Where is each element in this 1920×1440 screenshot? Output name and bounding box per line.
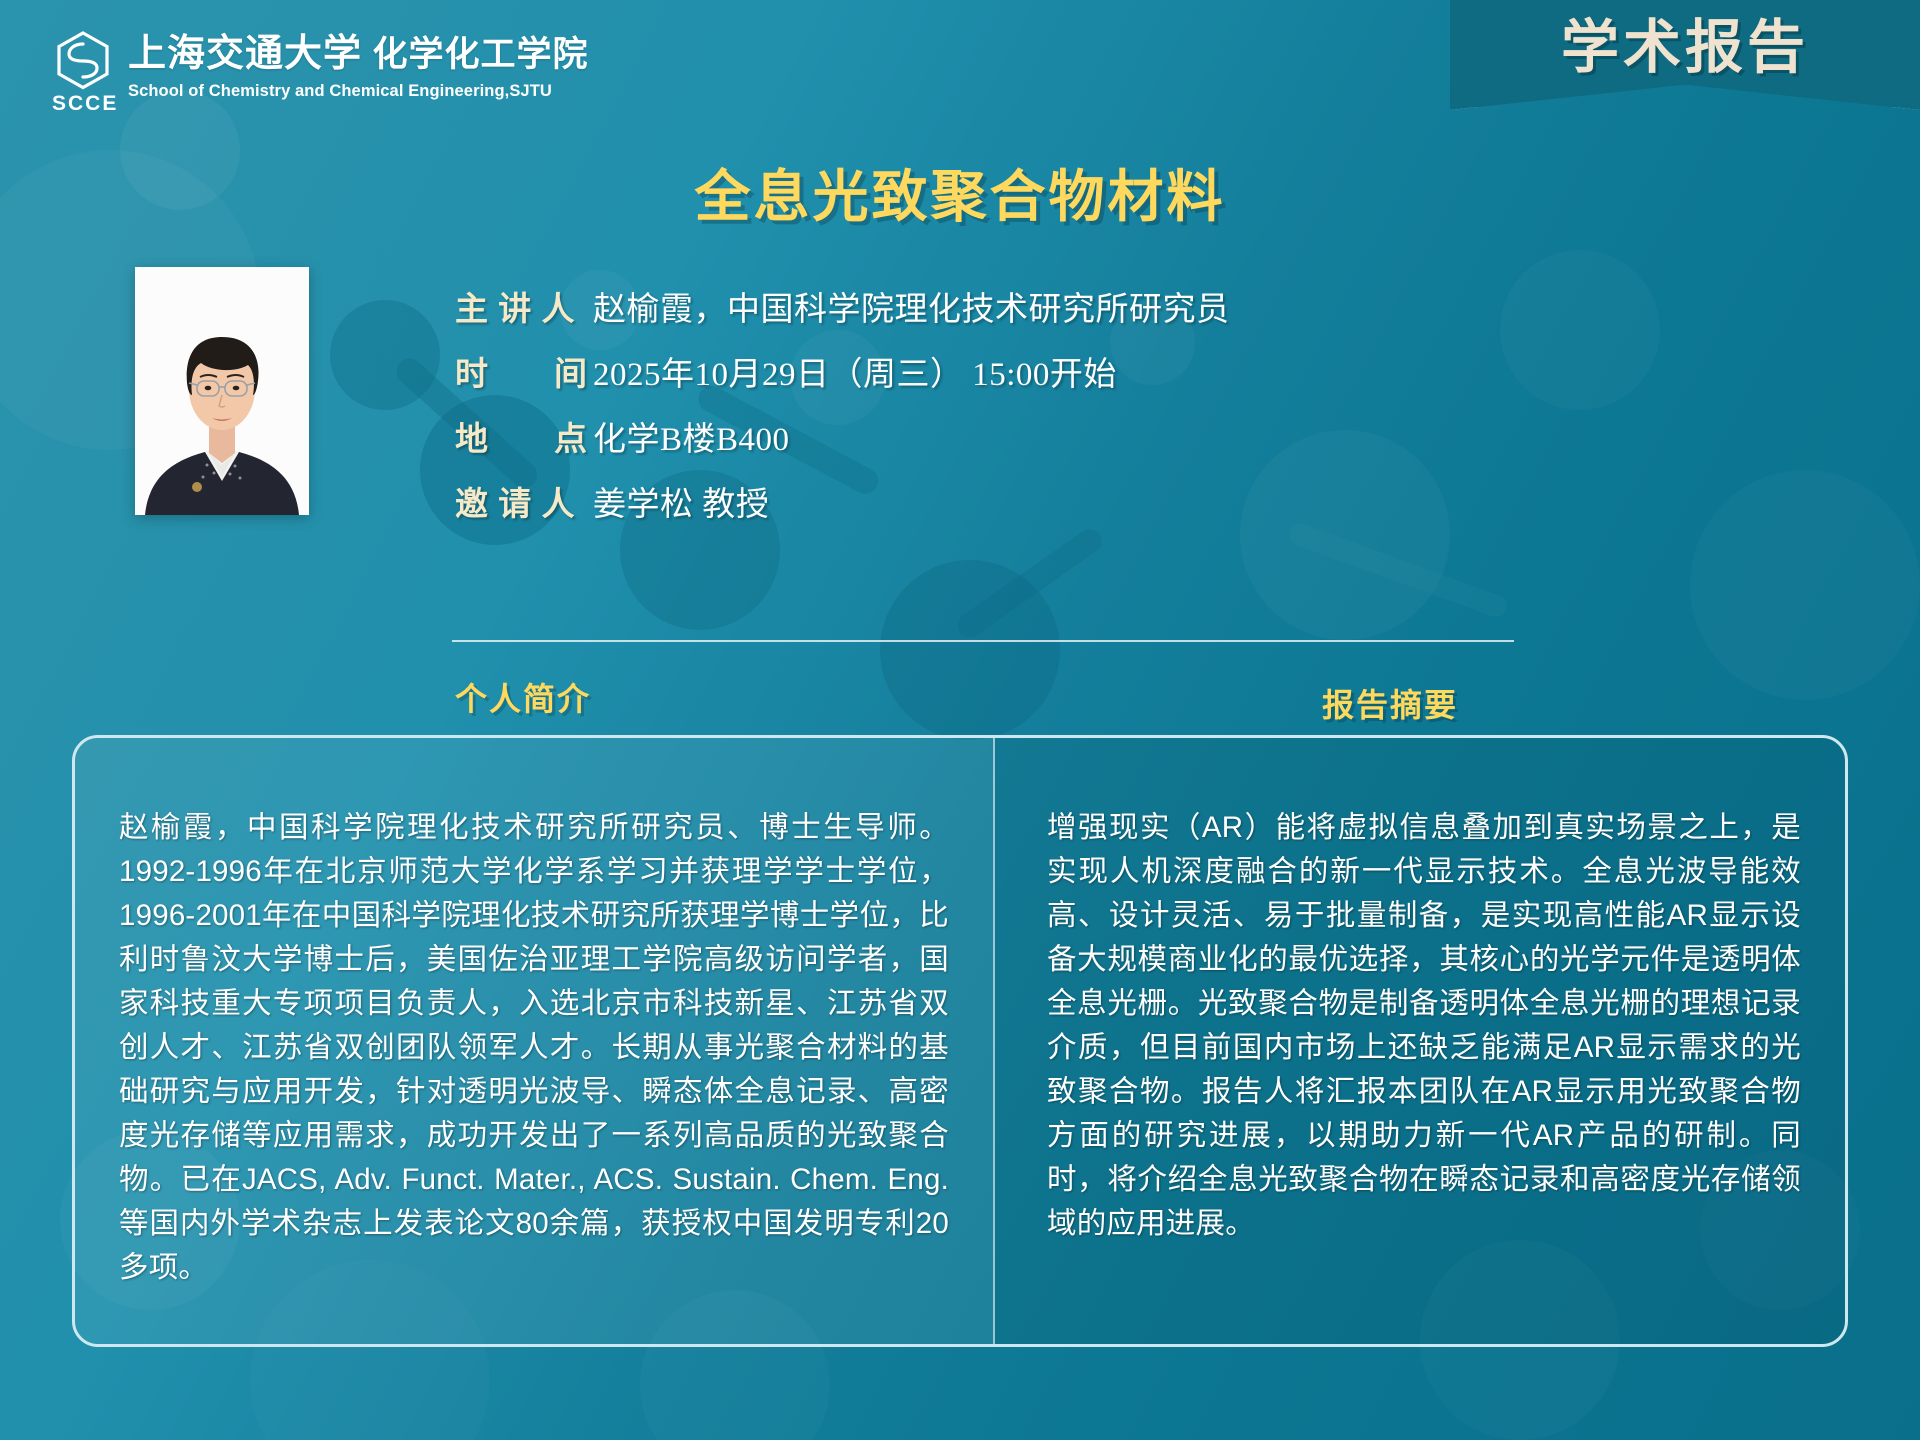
info-label-time: 时 间 — [455, 347, 593, 395]
info-row-time: 时 间 2025年10月29日（周三） 15:00开始 — [455, 347, 1525, 395]
page-title: 全息光致聚合物材料 — [0, 152, 1920, 233]
hexagon-icon: SCCE — [52, 30, 114, 116]
info-label-host: 邀 请 人 — [455, 477, 593, 525]
poster-canvas: SCCE 上海交通大学 化学化工学院 School of Chemistry a… — [0, 0, 1920, 1440]
logo-university-cn: 上海交通大学 — [128, 33, 362, 75]
scce-logo: SCCE 上海交通大学 化学化工学院 School of Chemistry a… — [52, 30, 589, 116]
content-panels: 赵榆霞，中国科学院理化技术研究所研究员、博士生导师。1992-1996年在北京师… — [72, 735, 1848, 1347]
info-value-time: 2025年10月29日（周三） 15:00开始 — [593, 347, 1117, 395]
event-info-block: 主 讲 人 赵榆霞，中国科学院理化技术研究所研究员 时 间 2025年10月29… — [455, 282, 1525, 542]
logo-acronym: SCCE — [52, 92, 118, 116]
speaker-photo — [135, 267, 309, 515]
info-value-location: 化学B楼B400 — [593, 412, 790, 460]
info-row-location: 地 点 化学B楼B400 — [455, 412, 1525, 460]
ribbon-label: 学术报告 — [1561, 0, 1809, 84]
info-label-location: 地 点 — [455, 412, 593, 460]
section-heading-bio: 个人简介 — [455, 674, 591, 720]
info-value-speaker: 赵榆霞，中国科学院理化技术研究所研究员 — [593, 282, 1230, 330]
section-heading-abstract: 报告摘要 — [1322, 680, 1458, 726]
abstract-text: 增强现实（AR）能将虚拟信息叠加到真实场景之上，是实现人机深度融合的新一代显示技… — [1039, 806, 1801, 1246]
ribbon-inner: 学术报告 — [1450, 0, 1920, 110]
info-row-host: 邀 请 人 姜学松 教授 — [455, 477, 1525, 525]
logo-chinese-name: 上海交通大学 化学化工学院 — [128, 34, 589, 76]
info-divider-rule — [452, 640, 1514, 642]
logo-school-cn: 化学化工学院 — [373, 35, 589, 74]
info-row-speaker: 主 讲 人 赵榆霞，中国科学院理化技术研究所研究员 — [455, 282, 1525, 330]
logo-english-name: School of Chemistry and Chemical Enginee… — [128, 82, 589, 101]
academic-report-ribbon: 学术报告 — [1450, 0, 1920, 110]
panel-biography: 赵榆霞，中国科学院理化技术研究所研究员、博士生导师。1992-1996年在北京师… — [75, 738, 995, 1344]
info-label-speaker: 主 讲 人 — [455, 282, 593, 330]
panel-abstract: 增强现实（AR）能将虚拟信息叠加到真实场景之上，是实现人机深度融合的新一代显示技… — [995, 738, 1845, 1344]
biography-text: 赵榆霞，中国科学院理化技术研究所研究员、博士生导师。1992-1996年在北京师… — [119, 806, 949, 1290]
info-value-host: 姜学松 教授 — [593, 477, 769, 525]
